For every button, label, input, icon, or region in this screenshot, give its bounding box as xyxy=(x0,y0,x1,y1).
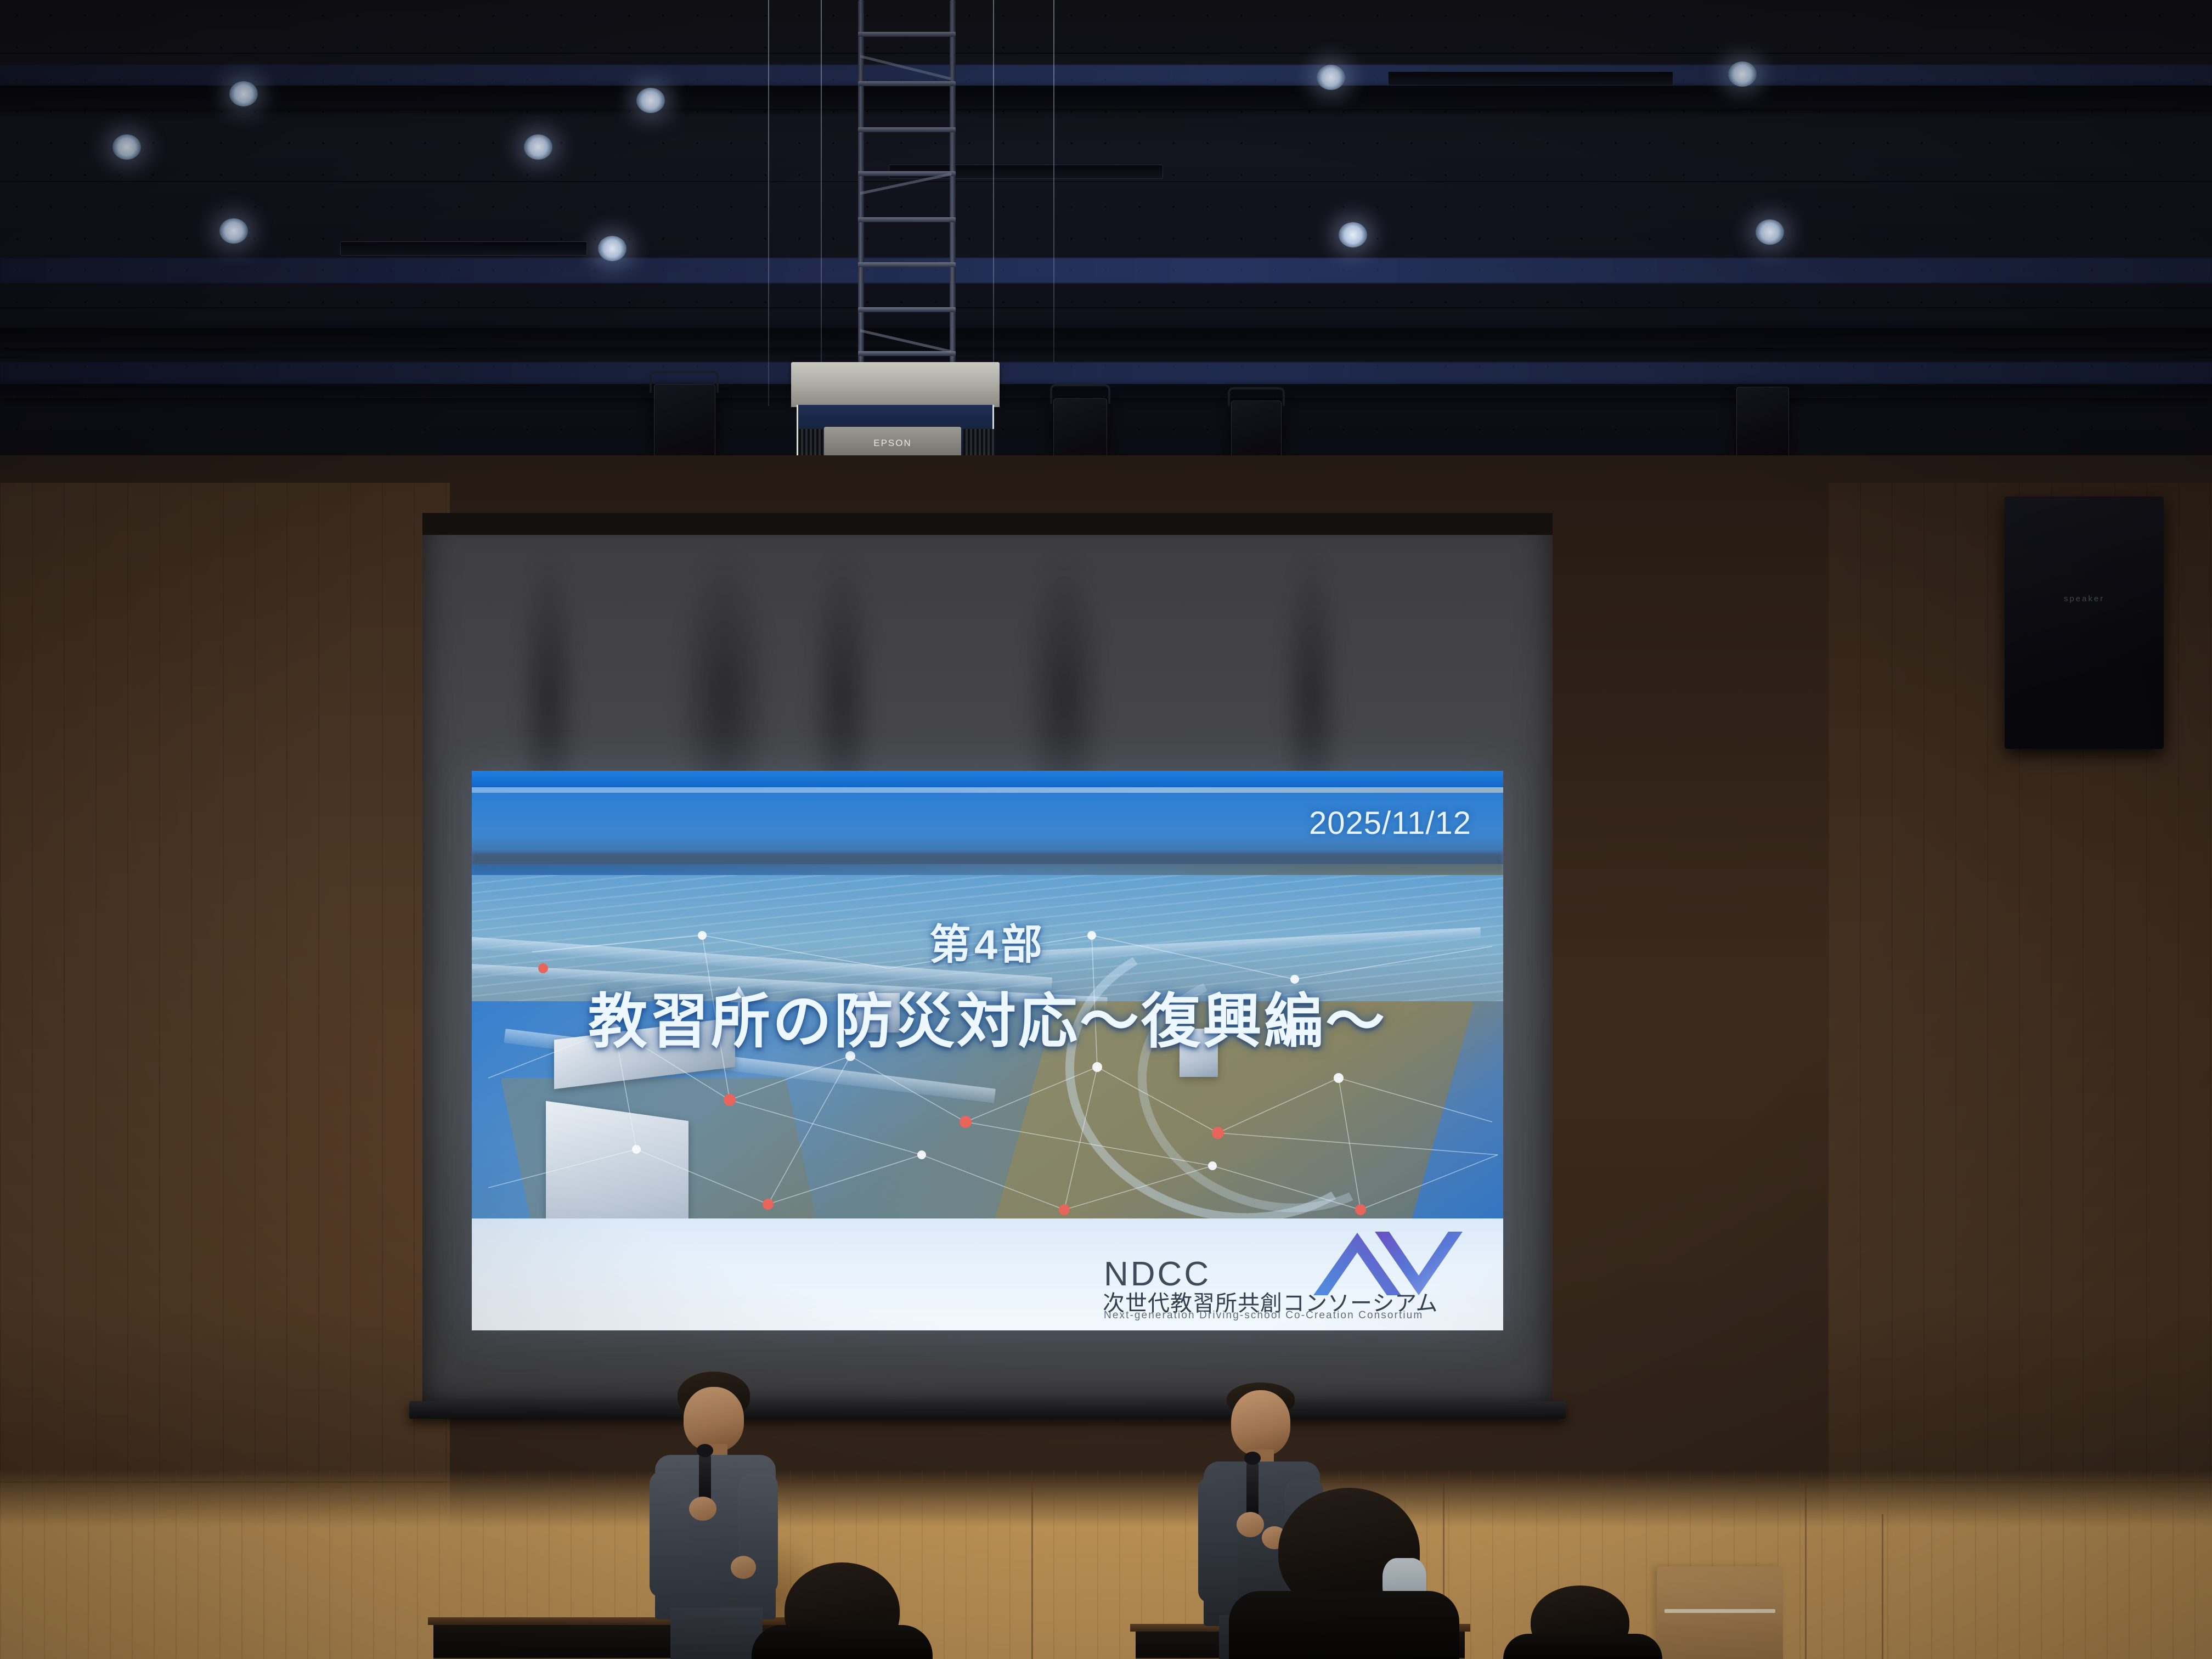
truss-brace xyxy=(860,55,951,80)
speaker-left-arm xyxy=(650,1471,689,1598)
projector-hood xyxy=(791,362,1000,407)
lit-wood-wall xyxy=(0,1470,2212,1659)
truss-rung xyxy=(858,351,956,356)
truss-rung xyxy=(858,262,956,267)
wall-seam xyxy=(1031,1481,1033,1659)
truss-rung xyxy=(858,307,956,312)
ceiling-panel-line xyxy=(0,307,2212,308)
downlight-icon xyxy=(636,88,665,113)
ceiling-panel-line xyxy=(0,53,2212,54)
suspension-wire xyxy=(821,0,822,384)
course-building xyxy=(546,1101,689,1218)
suspension-wire xyxy=(768,0,769,406)
logo-name-en: Next-generation Driving-school Co-Creati… xyxy=(1104,1310,1479,1322)
wood-grain-texture xyxy=(0,1470,2212,1659)
ceiling-beam xyxy=(0,328,2212,348)
ceiling-air-slot xyxy=(340,241,587,256)
truss-rung xyxy=(858,127,956,132)
downlight-icon xyxy=(598,236,627,261)
ceiling-beam xyxy=(0,86,2212,109)
ndcc-logo: NDCC xyxy=(1099,1226,1478,1324)
downlight-icon xyxy=(112,134,141,160)
suspension-wire xyxy=(1053,0,1054,362)
wall-seam xyxy=(0,1481,2212,1483)
screen-top-casing xyxy=(422,513,1553,535)
slide-footer: NDCC xyxy=(472,1218,1503,1330)
slide-hero-image: 2025/11/12 第4部 教習所の防災対応～復興編～ xyxy=(472,771,1503,1218)
pa-speaker-label: speaker xyxy=(2005,594,2164,603)
lighting-truss xyxy=(855,0,959,417)
projection-screen: 2025/11/12 第4部 教習所の防災対応～復興編～ NDCC xyxy=(422,513,1553,1404)
downlight-icon xyxy=(1728,61,1757,87)
speaker-head xyxy=(684,1387,744,1452)
speaker-hand xyxy=(689,1497,716,1521)
auditorium-photo: EPSON speaker xyxy=(0,0,2212,1659)
wall-seam xyxy=(1882,1514,1883,1659)
truss-rung xyxy=(858,32,956,37)
projected-slide: 2025/11/12 第4部 教習所の防災対応～復興編～ NDCC xyxy=(472,771,1503,1330)
slide-date: 2025/11/12 xyxy=(1309,805,1471,842)
truss-rung xyxy=(858,81,956,86)
downlight-icon xyxy=(524,134,552,160)
downlight-icon xyxy=(1339,222,1367,247)
downlight-icon xyxy=(229,81,258,106)
downlight-icon xyxy=(219,218,248,244)
projector-brand-label: EPSON xyxy=(824,438,961,449)
ceiling-panel-line xyxy=(0,181,2212,182)
audience-shoulders xyxy=(1503,1634,1662,1659)
slide-part-label: 第4部 xyxy=(472,911,1503,971)
speaker-left xyxy=(631,1372,806,1659)
truss-brace xyxy=(860,329,951,353)
ceiling-air-slot xyxy=(1388,71,1673,86)
stage-podium xyxy=(1657,1566,1783,1659)
truss-rung xyxy=(858,217,956,222)
slide-top-strip xyxy=(472,771,1503,787)
audience-shoulders xyxy=(752,1625,933,1659)
downlight-icon xyxy=(1317,65,1345,90)
wall-seam xyxy=(1805,1481,1807,1659)
slide-top-strip-highlight xyxy=(472,787,1503,793)
slide-title: 教習所の防災対応～復興編～ xyxy=(472,974,1503,1059)
suspension-wire xyxy=(993,0,994,417)
speaker-trousers xyxy=(670,1607,763,1659)
wall-mounted-pa-speaker: speaker xyxy=(2005,496,2164,749)
speaker-head xyxy=(1231,1390,1290,1456)
downlight-icon xyxy=(1756,219,1784,245)
speaker-hand xyxy=(1237,1512,1264,1537)
speaker-left-arm xyxy=(1198,1477,1238,1603)
speaker-hand xyxy=(731,1556,756,1579)
ceiling-light-band xyxy=(0,258,2212,283)
audience-shoulders xyxy=(1229,1591,1459,1659)
screen-bottom-bar xyxy=(409,1401,1566,1419)
